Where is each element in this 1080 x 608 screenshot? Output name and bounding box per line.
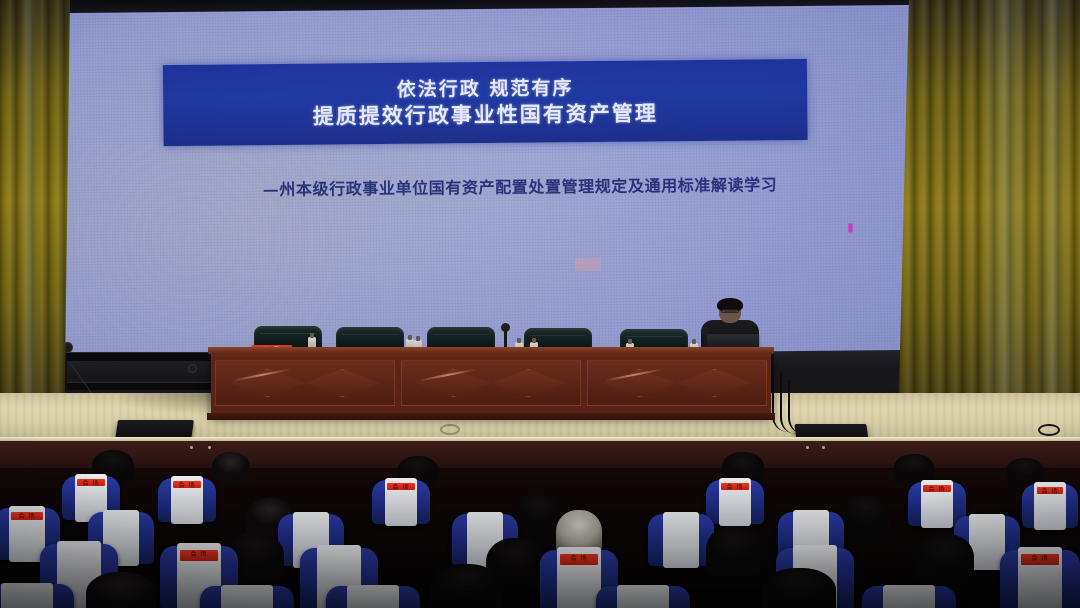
audience-seat	[862, 586, 956, 608]
audience-seat	[596, 586, 690, 608]
seat-placard-text: 会 场	[1021, 554, 1059, 562]
seat-placard-text: 会 场	[173, 481, 201, 488]
audience-seating-area: 会 场 会 场 会 场 会 场 会 场	[0, 468, 1080, 608]
coiled-cable	[1038, 424, 1060, 436]
stage-curtain-left	[0, 0, 70, 418]
apron-marker	[806, 446, 809, 449]
seat-placard: 会 场	[923, 485, 951, 492]
seat-placard: 会 场	[11, 512, 43, 520]
podium-base-trim	[207, 413, 775, 420]
podium-top-edge	[208, 347, 774, 354]
seat-headrest-cover	[1, 583, 54, 608]
seat-placard-text: 会 场	[1037, 487, 1064, 494]
conference-table-podium	[211, 352, 771, 414]
seat-placard-text: 会 场	[923, 485, 951, 492]
seat-placard-text: 会 场	[721, 483, 749, 490]
audience-seat	[326, 586, 420, 608]
seat-placard-text: 会 场	[77, 479, 105, 486]
stage-curtain-right	[898, 0, 1080, 430]
curtain-sheen	[1036, 0, 1069, 430]
seat-headrest-cover	[221, 585, 274, 608]
audience-seat: 会 场	[158, 478, 216, 522]
podium-panel	[401, 360, 581, 406]
audience-seat: 会 场	[372, 480, 430, 524]
seat-placard: 会 场	[180, 550, 217, 560]
seat-placard-text: 会 场	[387, 483, 415, 490]
curtain-sheen	[21, 0, 39, 418]
audience-member	[212, 452, 250, 484]
seat-placard: 会 场	[173, 481, 201, 488]
audience-member	[516, 494, 562, 534]
screen-magenta-artifact	[848, 224, 852, 233]
apron-marker	[190, 446, 193, 449]
seat-placard: 会 场	[560, 554, 597, 564]
coiled-cable	[440, 424, 460, 435]
seat-placard: 会 场	[1037, 487, 1064, 494]
audience-seat	[648, 514, 714, 566]
seat-headrest-cover	[347, 585, 400, 608]
audience-member	[430, 564, 502, 608]
audience-member	[706, 526, 762, 576]
seat-placard-text: 会 场	[11, 512, 43, 520]
audience-member	[916, 534, 974, 584]
curtain-sheen	[978, 0, 1033, 430]
slide-title-line-2: 提质提效行政事业性国有资产管理	[313, 99, 658, 129]
led-presentation-screen: 依法行政 规范有序 提质提效行政事业性国有资产管理 —州本级行政事业单位国有资产…	[56, 5, 919, 358]
audience-member	[86, 572, 156, 608]
seat-placard-text: 会 场	[180, 550, 217, 558]
slide-subtitle: —州本级行政事业单位国有资产配置处置管理规定及通用标准解读学习	[170, 170, 870, 201]
seat-placard-text: 会 场	[560, 554, 597, 562]
seat-headrest-cover	[663, 512, 700, 568]
apron-marker	[208, 446, 211, 449]
audience-seat: 会 场	[1022, 484, 1078, 528]
audience-seat: 会 场	[706, 480, 764, 524]
podium-diamond-inlay	[602, 369, 752, 397]
seat-placard: 会 场	[721, 483, 749, 490]
seat-placard: 会 场	[387, 483, 415, 490]
microphone	[504, 330, 507, 348]
audience-seat	[0, 584, 74, 608]
podium-diamond-inlay	[416, 369, 566, 397]
podium-panel	[215, 360, 395, 406]
slide-title-line-1: 依法行政 规范有序	[397, 76, 574, 102]
screen-pink-artifact	[575, 258, 601, 271]
seat-headrest-cover	[617, 585, 670, 608]
glasses-icon	[721, 309, 739, 313]
audience-member	[842, 496, 890, 536]
seat-placard: 会 场	[77, 479, 105, 486]
seat-placard: 会 场	[1021, 554, 1059, 564]
podium-diamond-inlay	[230, 369, 380, 397]
audience-member	[762, 568, 836, 608]
audience-seat	[200, 586, 294, 608]
auditorium-scene: 依法行政 规范有序 提质提效行政事业性国有资产管理 —州本级行政事业单位国有资产…	[0, 0, 1080, 608]
slide-title-band: 依法行政 规范有序 提质提效行政事业性国有资产管理	[163, 59, 808, 146]
seat-headrest-cover	[883, 585, 936, 608]
frame-knob	[188, 364, 197, 373]
screen-moire-pattern	[75, 142, 335, 338]
audience-seat: 会 场	[1000, 550, 1080, 608]
apron-marker	[822, 446, 825, 449]
podium-panel	[587, 360, 767, 406]
